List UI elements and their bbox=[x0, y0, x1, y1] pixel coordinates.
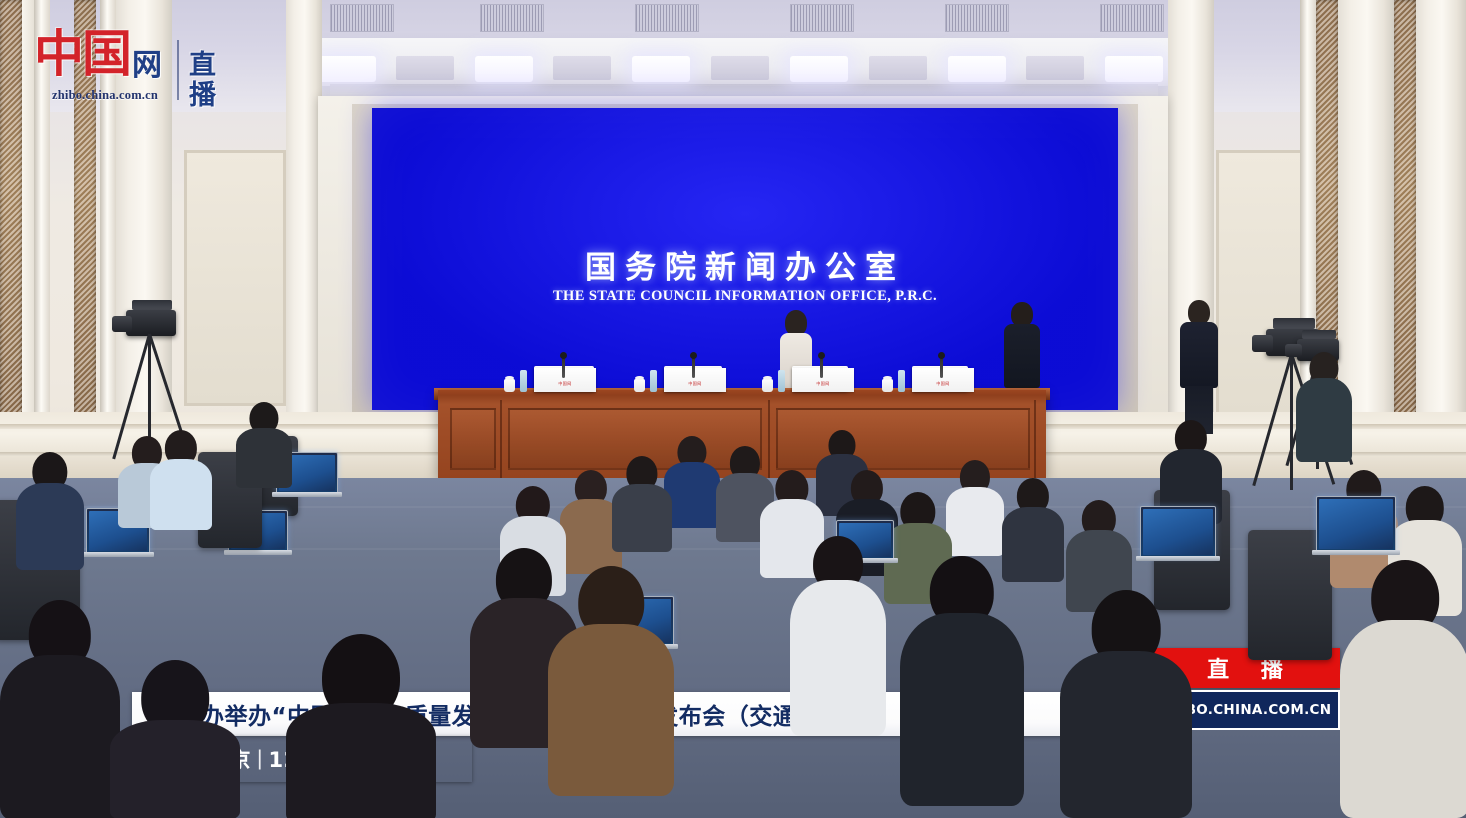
ceiling-light-6 bbox=[1105, 56, 1163, 82]
wall-panel-right bbox=[1216, 150, 1308, 416]
ornamental-inlay-right-2 bbox=[1394, 0, 1416, 470]
logo-url-text: zhibo.china.com.cn bbox=[52, 88, 158, 103]
date-label: 12月27日 bbox=[268, 744, 371, 774]
ceiling-panel-2 bbox=[553, 56, 611, 80]
ceiling-vent-3 bbox=[635, 4, 699, 32]
ceiling-panel-4 bbox=[869, 56, 927, 80]
ceiling-vent-4 bbox=[790, 4, 854, 32]
ceiling-panel-3 bbox=[711, 56, 769, 80]
wall-panel-left bbox=[184, 150, 286, 406]
logo-live-label: 直播 bbox=[189, 50, 224, 110]
placard-name-4: 中国网 bbox=[912, 381, 974, 387]
logo-divider bbox=[177, 40, 179, 100]
ceiling-soffit-lip bbox=[330, 84, 1158, 96]
water-bottle-4 bbox=[898, 370, 905, 392]
ceiling-light-3 bbox=[632, 56, 690, 82]
ceiling-vent-6 bbox=[1100, 4, 1164, 32]
logo-text-net: 网 bbox=[132, 40, 162, 84]
play-triangle-icon[interactable] bbox=[44, 728, 96, 790]
headline-bar: 国新办举办“中国经济高质量发展成效”系列新闻发布会（交通运输部） bbox=[132, 692, 1120, 736]
name-placard-3: 中国网 bbox=[792, 368, 854, 392]
live-badge-label: 直 播 bbox=[1195, 652, 1295, 684]
placard-name-3: 中国网 bbox=[792, 381, 854, 387]
ceiling-vent-1 bbox=[330, 4, 394, 32]
broadcaster-logo[interactable]: 中国 网 zhibo.china.com.cn 直播 bbox=[34, 26, 224, 110]
desk-microphone-2 bbox=[692, 356, 695, 378]
placard-name-1: 中国网 bbox=[534, 381, 596, 387]
water-bottle-3 bbox=[778, 370, 785, 392]
desk-set-1: 中国网 bbox=[500, 360, 610, 392]
stage-person-aisle bbox=[1176, 300, 1222, 436]
tea-cup-1 bbox=[504, 379, 515, 392]
ceiling-panel-1 bbox=[396, 56, 454, 80]
tea-cup-3 bbox=[762, 379, 773, 392]
name-placard-2: 中国网 bbox=[664, 368, 726, 392]
live-badge-url-box: ZHIBO.CHINA.COM.CN bbox=[1150, 690, 1340, 730]
name-placard-1: 中国网 bbox=[534, 368, 596, 392]
water-bottle-2 bbox=[650, 370, 657, 392]
city-label: 北京 bbox=[208, 744, 251, 774]
stage-person-man bbox=[1000, 302, 1044, 398]
lower-third-banner: 国新办举办“中国经济高质量发展成效”系列新闻发布会（交通运输部） 北京 | 12… bbox=[132, 692, 1120, 782]
live-badge[interactable]: 直 播 ZHIBO.CHINA.COM.CN bbox=[1150, 648, 1340, 730]
ornamental-inlay-right-1 bbox=[1316, 0, 1338, 470]
desk-set-3: 中国网 bbox=[758, 360, 868, 392]
ceiling-light-1 bbox=[318, 56, 376, 82]
ceiling-light-5 bbox=[948, 56, 1006, 82]
desk-microphone-3 bbox=[820, 356, 823, 378]
ceiling-light-2 bbox=[475, 56, 533, 82]
live-badge-red: 直 播 bbox=[1150, 648, 1340, 688]
desk-set-2: 中国网 bbox=[630, 360, 740, 392]
tea-cup-4 bbox=[882, 379, 893, 392]
headline-text: 国新办举办“中国经济高质量发展成效”系列新闻发布会（交通运输部） bbox=[154, 697, 890, 731]
ceiling-vent-2 bbox=[480, 4, 544, 32]
separator-label: | bbox=[257, 747, 262, 771]
placard-name-2: 中国网 bbox=[664, 381, 726, 387]
desk-microphone-1 bbox=[562, 356, 565, 378]
live-badge-url: ZHIBO.CHINA.COM.CN bbox=[1159, 702, 1332, 718]
ornamental-inlay-left-1 bbox=[0, 0, 22, 470]
head-table bbox=[438, 390, 1046, 478]
ceiling-light-4 bbox=[790, 56, 848, 82]
location-date-bar: 北京 | 12月27日 bbox=[132, 736, 472, 782]
ceiling-panel-5 bbox=[1026, 56, 1084, 80]
logo-text-china: 中国 bbox=[34, 28, 130, 80]
video-player-stage: 国务院新闻办公室 THE STATE COUNCIL INFORMATION O… bbox=[0, 0, 1466, 818]
tea-cup-2 bbox=[634, 379, 645, 392]
desk-set-4: 中国网 bbox=[878, 360, 988, 392]
ceiling-vent-5 bbox=[945, 4, 1009, 32]
name-placard-4: 中国网 bbox=[912, 368, 974, 392]
led-title-chinese: 国务院新闻办公室 bbox=[372, 242, 1118, 287]
desk-microphone-4 bbox=[940, 356, 943, 378]
water-bottle-1 bbox=[520, 370, 527, 392]
